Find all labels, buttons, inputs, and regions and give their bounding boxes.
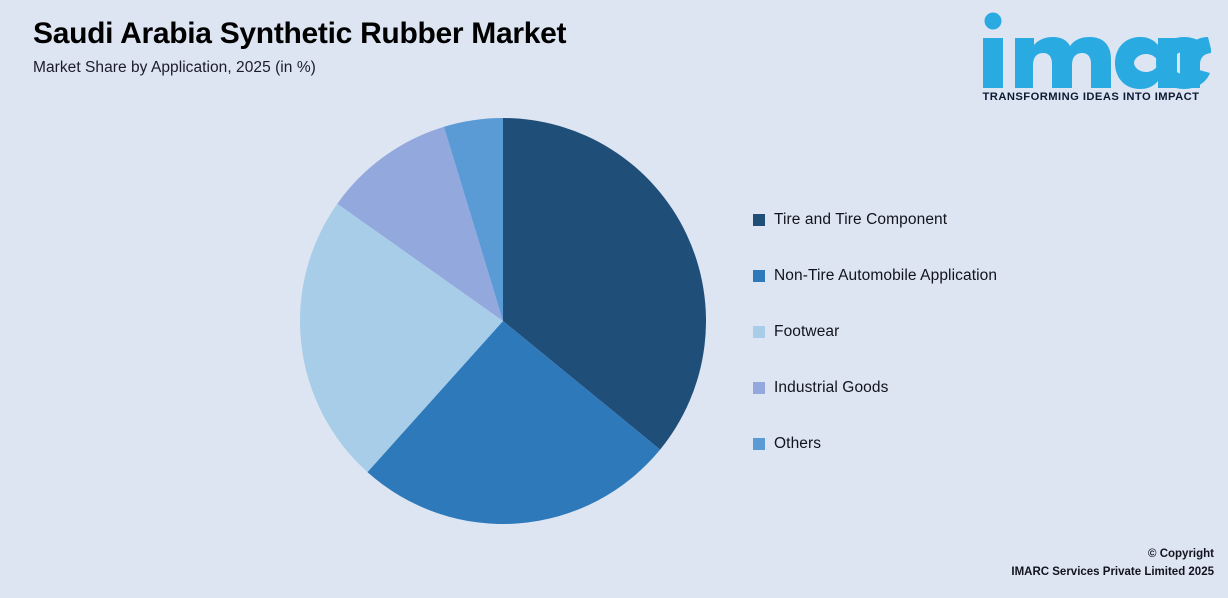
imarc-logo: TRANSFORMING IDEAS INTO IMPACT: [968, 12, 1214, 103]
legend-label-non-tire-automobile-application: Non-Tire Automobile Application: [774, 267, 997, 285]
logo-tagline: TRANSFORMING IDEAS INTO IMPACT: [968, 91, 1214, 103]
legend-item-industrial-goods[interactable]: Industrial Goods: [753, 360, 1173, 416]
legend-label-others: Others: [774, 435, 821, 453]
copyright-line: © Copyright: [1011, 546, 1214, 564]
legend-swatch-non-tire-automobile-application: [753, 270, 765, 282]
legend-label-tire-and-tire-component: Tire and Tire Component: [774, 211, 947, 229]
pie-chart: [300, 118, 706, 524]
legend-swatch-industrial-goods: [753, 382, 765, 394]
legend-swatch-others: [753, 438, 765, 450]
legend-label-footwear: Footwear: [774, 323, 839, 341]
legend-swatch-tire-and-tire-component: [753, 214, 765, 226]
legend-item-tire-and-tire-component[interactable]: Tire and Tire Component: [753, 192, 1173, 248]
legend-swatch-footwear: [753, 326, 765, 338]
page-title: Saudi Arabia Synthetic Rubber Market: [33, 16, 793, 51]
chart-subtitle: Market Share by Application, 2025 (in %): [33, 59, 793, 77]
legend-item-footwear[interactable]: Footwear: [753, 304, 1173, 360]
imarc-wordmark-icon: [971, 12, 1211, 90]
legend-label-industrial-goods: Industrial Goods: [774, 379, 888, 397]
company-line: IMARC Services Private Limited 2025: [1011, 564, 1214, 582]
legend-item-non-tire-automobile-application[interactable]: Non-Tire Automobile Application: [753, 248, 1173, 304]
pie-chart-svg: [300, 118, 706, 524]
pie-slice-group: [300, 118, 706, 524]
chart-legend: Tire and Tire Component Non-Tire Automob…: [753, 192, 1173, 472]
chart-page: Saudi Arabia Synthetic Rubber Market Mar…: [0, 0, 1228, 598]
legend-item-others[interactable]: Others: [753, 416, 1173, 472]
chart-header: Saudi Arabia Synthetic Rubber Market Mar…: [33, 16, 793, 77]
copyright-footer: © Copyright IMARC Services Private Limit…: [1011, 546, 1214, 582]
